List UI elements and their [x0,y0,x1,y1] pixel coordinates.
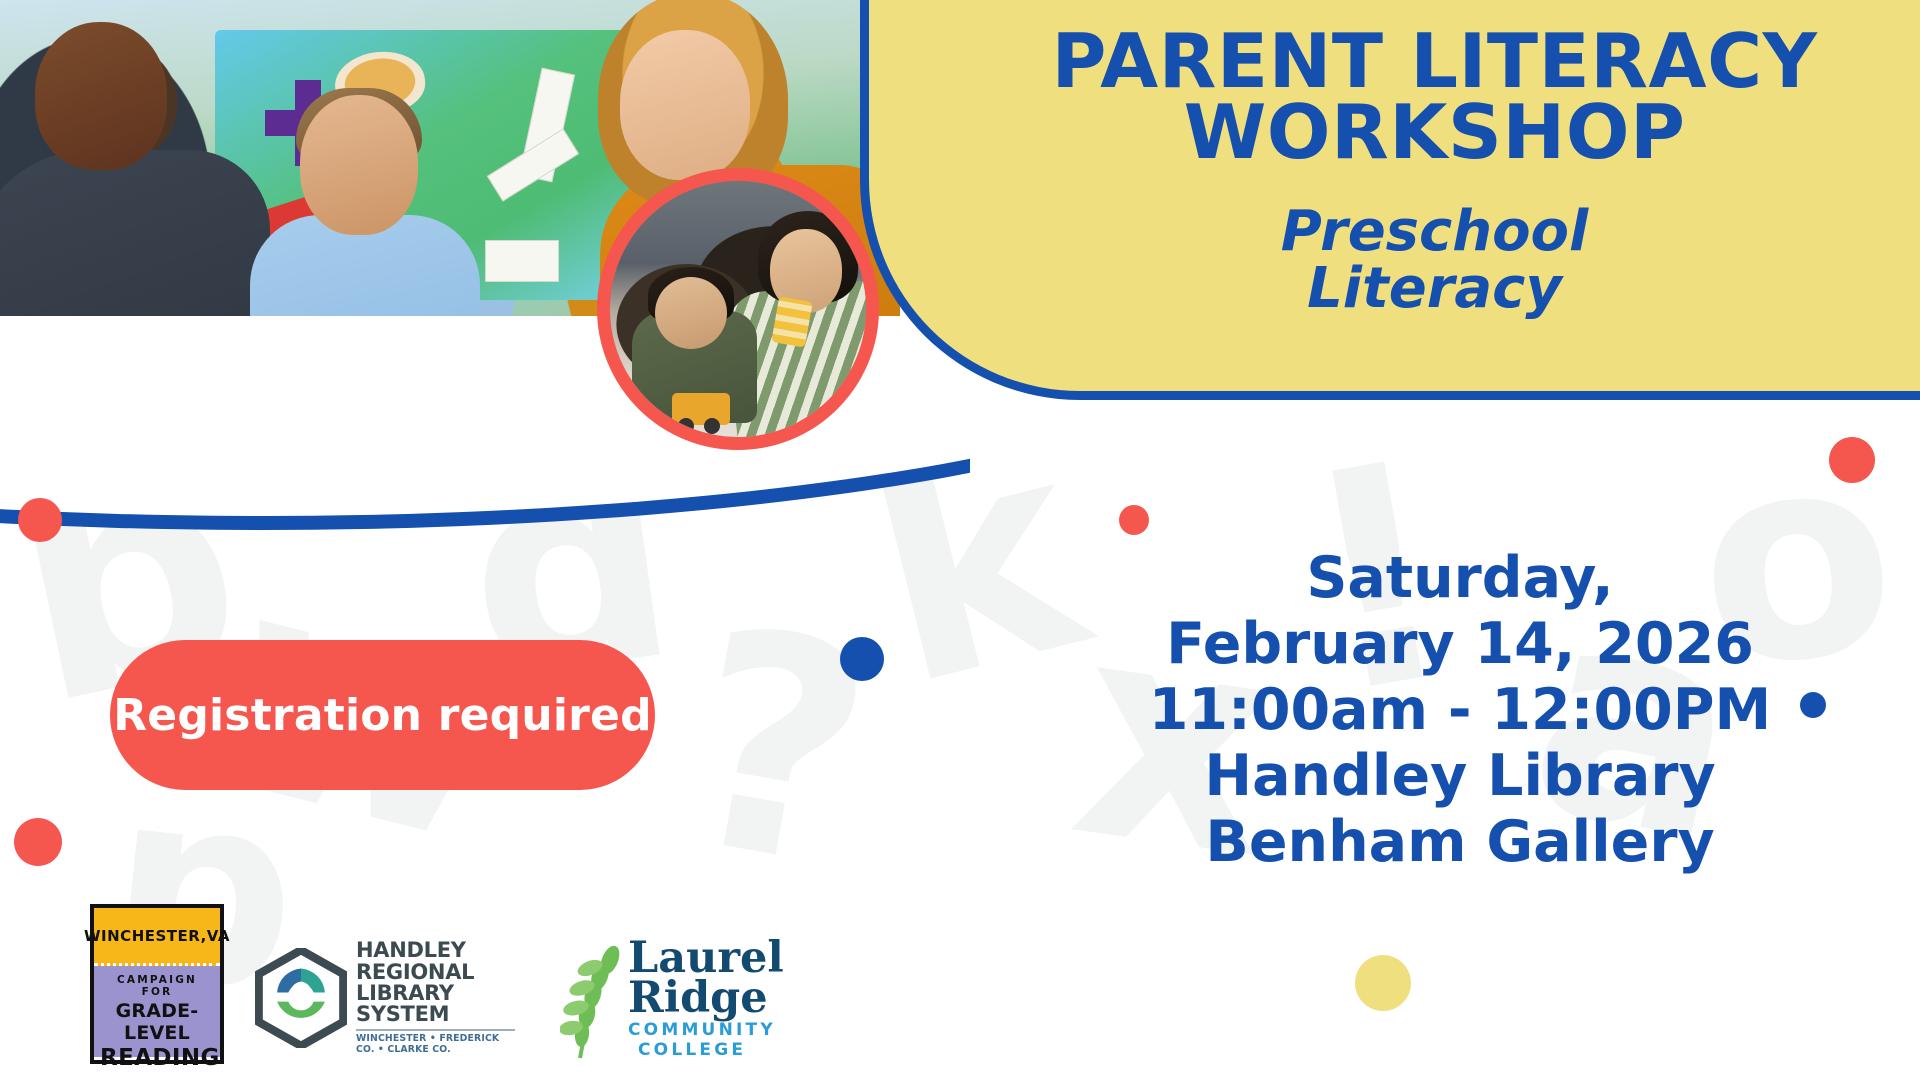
logo-laurel-ridge-community-college: Laurel Ridge COMMUNITY COLLEGE [560,938,790,1063]
event-date: February 14, 2026 [1130,611,1790,677]
laurel-line-college: COLLEGE [638,1040,784,1060]
circle-inset-photo [597,168,879,450]
title-line-2: WORKSHOP [989,97,1880,168]
decor-dot-blue [840,637,884,681]
cglr-line-campaign-for: CAMPAIGN FOR [100,974,214,998]
decor-dot-coral [14,818,62,866]
decor-dot-coral [1829,437,1875,483]
event-venue: Handley Library [1130,743,1790,809]
adult-male-head [35,22,167,170]
page-title: PARENT LITERACY WORKSHOP [989,26,1880,169]
decor-dot-yellow [1355,955,1411,1011]
handley-locations: WINCHESTER • FREDERICK CO. • CLARKE CO. [356,1033,515,1055]
inset-toddler-head [655,277,727,349]
event-details: Saturday, February 14, 2026 11:00am - 12… [1130,545,1790,876]
cglr-city-label: WINCHESTER,VA [84,927,230,945]
handley-wordmark: HANDLEY REGIONAL LIBRARY SYSTEM WINCHEST… [356,940,515,1055]
event-time: 11:00am - 12:00PM [1130,677,1790,743]
decor-dot-coral [18,498,62,542]
page-subtitle: Preschool Literacy [989,203,1880,317]
handley-divider [356,1029,515,1031]
event-day: Saturday, [1130,545,1790,611]
header-panel: PARENT LITERACY WORKSHOP Preschool Liter… [860,0,1920,400]
board-note [485,240,559,282]
child-head [300,95,418,235]
laurel-line-laurel: Laurel [628,938,784,978]
subtitle-line-2: Literacy [989,260,1880,317]
handley-line-2: LIBRARY SYSTEM [356,983,515,1026]
decor-dot-blue [1800,692,1826,718]
cglr-line-reading: READING [100,1045,214,1071]
flyer-canvas: b w d ? k x ! a o p [0,0,1920,1080]
laurel-line-ridge: Ridge [628,978,784,1018]
laurel-wordmark: Laurel Ridge COMMUNITY COLLEGE [628,938,784,1060]
header-panel-content: PARENT LITERACY WORKSHOP Preschool Liter… [869,0,1920,317]
event-room: Benham Gallery [1130,809,1790,875]
laurel-branch-icon [560,944,630,1069]
adult-female-head [620,30,750,180]
circle-photo-image [610,181,866,437]
status-badge: Registration required [110,640,655,790]
laurel-line-community: COMMUNITY [628,1020,784,1040]
inset-toy-car [672,393,730,425]
subtitle-line-1: Preschool [989,203,1880,260]
cglr-city-band: WINCHESTER,VA [94,908,220,966]
cglr-name-band: CAMPAIGN FOR GRADE-LEVEL READING [94,966,220,1057]
title-line-1: PARENT LITERACY [989,26,1880,97]
handley-line-1: HANDLEY REGIONAL [356,940,515,983]
decor-dot-coral [1119,505,1149,535]
watermark-letter: ? [665,587,888,913]
cglr-line-grade-level: GRADE-LEVEL [100,1000,214,1044]
handley-hexagon-icon [255,948,347,1048]
logo-campaign-grade-level-reading: WINCHESTER,VA CAMPAIGN FOR GRADE-LEVEL R… [90,904,224,1064]
logo-handley-regional-library-system: HANDLEY REGIONAL LIBRARY SYSTEM WINCHEST… [255,945,515,1050]
registration-label: Registration required [113,690,652,741]
partner-logos: WINCHESTER,VA CAMPAIGN FOR GRADE-LEVEL R… [0,890,900,1080]
